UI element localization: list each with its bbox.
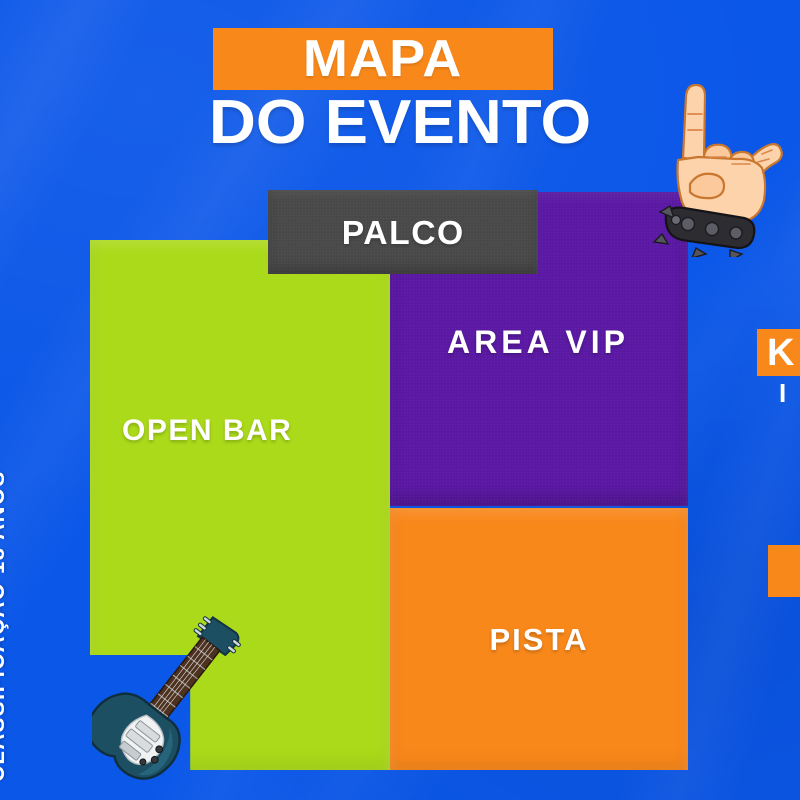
event-map-poster: MAPA DO EVENTO CLASSIFICAÇÃO 18 ANOS K I… [0, 0, 800, 800]
map-zone-palco-label: PALCO [342, 216, 465, 249]
right-promo-block [768, 545, 800, 597]
page-title-line1: MAPA [303, 33, 462, 85]
map-zone-palco: PALCO [268, 190, 538, 274]
right-promo-badge: K [757, 329, 800, 376]
map-zone-pista: PISTA [390, 508, 688, 770]
map-zone-area-vip-label: AREA VIP [447, 326, 629, 358]
title-badge: MAPA [213, 28, 553, 90]
map-zone-open-bar-label: OPEN BAR [122, 416, 292, 446]
right-promo-subtext: I [779, 380, 786, 406]
age-rating-note: CLASSIFICAÇÃO 18 ANOS [0, 470, 10, 782]
map-zone-pista-label: PISTA [490, 624, 589, 655]
map-zone-open-bar: OPEN BAR [90, 240, 390, 770]
right-promo-badge-letter: K [767, 334, 794, 372]
page-title-line2: DO EVENTO [0, 92, 800, 154]
